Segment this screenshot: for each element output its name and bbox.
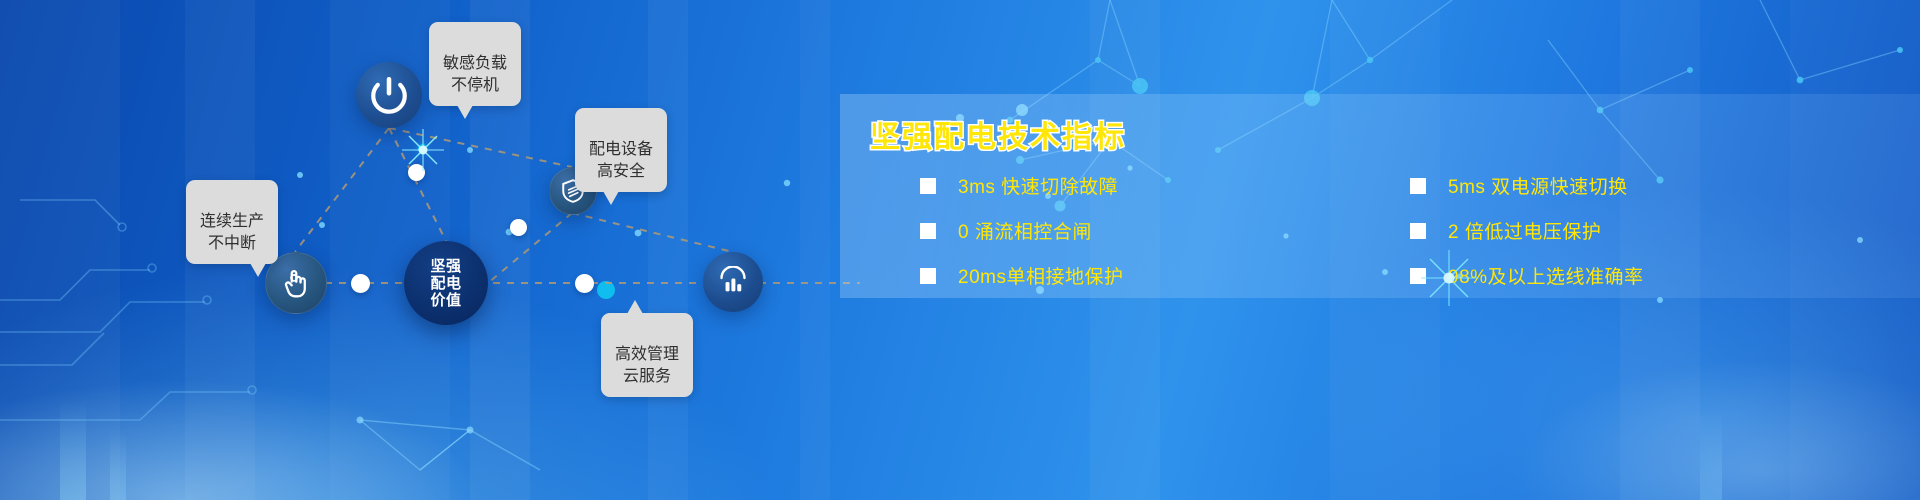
spec-item: 20ms单相接地保护 xyxy=(920,262,1380,289)
callout-cloud-service[interactable]: 高效管理 云服务 xyxy=(601,313,693,397)
connector-dot xyxy=(510,219,527,236)
bar-chart-icon xyxy=(717,266,749,298)
connector-dot xyxy=(575,274,594,293)
bullet-square-icon xyxy=(1410,268,1426,284)
callout-equipment-safety[interactable]: 配电设备 高安全 xyxy=(575,108,667,192)
bullet-square-icon xyxy=(920,178,936,194)
callout-text: 连续生产 不中断 xyxy=(200,213,264,252)
callout-continuous-production[interactable]: 连续生产 不中断 xyxy=(186,180,278,264)
spec-panel: 坚强配电技术指标 3ms 快速切除故障 5ms 双电源快速切换 0 涌流相控合闸… xyxy=(840,94,1920,298)
spec-item-label: 0 涌流相控合闸 xyxy=(958,217,1092,244)
connector-dot xyxy=(351,274,370,293)
hand-click-icon xyxy=(279,266,313,300)
power-icon xyxy=(368,74,410,116)
spec-panel-title: 坚强配电技术指标 xyxy=(870,112,1126,156)
spec-item-label: 5ms 双电源快速切换 xyxy=(1448,172,1628,199)
node-bar-chart[interactable] xyxy=(703,252,763,312)
callout-text: 高效管理 云服务 xyxy=(615,346,679,385)
bullet-square-icon xyxy=(1410,178,1426,194)
spec-item-label: 3ms 快速切除故障 xyxy=(958,172,1118,199)
spec-item: 5ms 双电源快速切换 xyxy=(1410,172,1870,199)
spec-item: 2 倍低过电压保护 xyxy=(1410,217,1870,244)
center-node-label: 坚强 配电 价值 xyxy=(430,258,461,309)
spec-item-label: 2 倍低过电压保护 xyxy=(1448,217,1601,244)
spec-list: 3ms 快速切除故障 5ms 双电源快速切换 0 涌流相控合闸 2 倍低过电压保… xyxy=(920,172,1910,289)
banner-root: 坚强 配电 价值 敏感负载 不停机 配电设备 高安全 连续生产 不中断 高效管理… xyxy=(0,0,1920,500)
node-power[interactable] xyxy=(356,62,422,128)
spec-item: 0 涌流相控合闸 xyxy=(920,217,1380,244)
center-node: 坚强 配电 价值 xyxy=(404,241,488,325)
callout-text: 配电设备 高安全 xyxy=(589,141,653,180)
spec-item-label: 20ms单相接地保护 xyxy=(958,262,1123,289)
callout-text: 敏感负载 不停机 xyxy=(443,55,507,94)
value-diagram: 坚强 配电 价值 敏感负载 不停机 配电设备 高安全 连续生产 不中断 高效管理… xyxy=(0,0,860,500)
bullet-square-icon xyxy=(920,223,936,239)
connector-dot xyxy=(408,164,425,181)
spec-item: 98%及以上选线准确率 xyxy=(1410,262,1870,289)
spec-item: 3ms 快速切除故障 xyxy=(920,172,1380,199)
connector-dot-cyan xyxy=(418,144,427,153)
bullet-square-icon xyxy=(1410,223,1426,239)
callout-sensitive-load[interactable]: 敏感负载 不停机 xyxy=(429,22,521,106)
spec-item-label: 98%及以上选线准确率 xyxy=(1448,262,1644,289)
bullet-square-icon xyxy=(920,268,936,284)
